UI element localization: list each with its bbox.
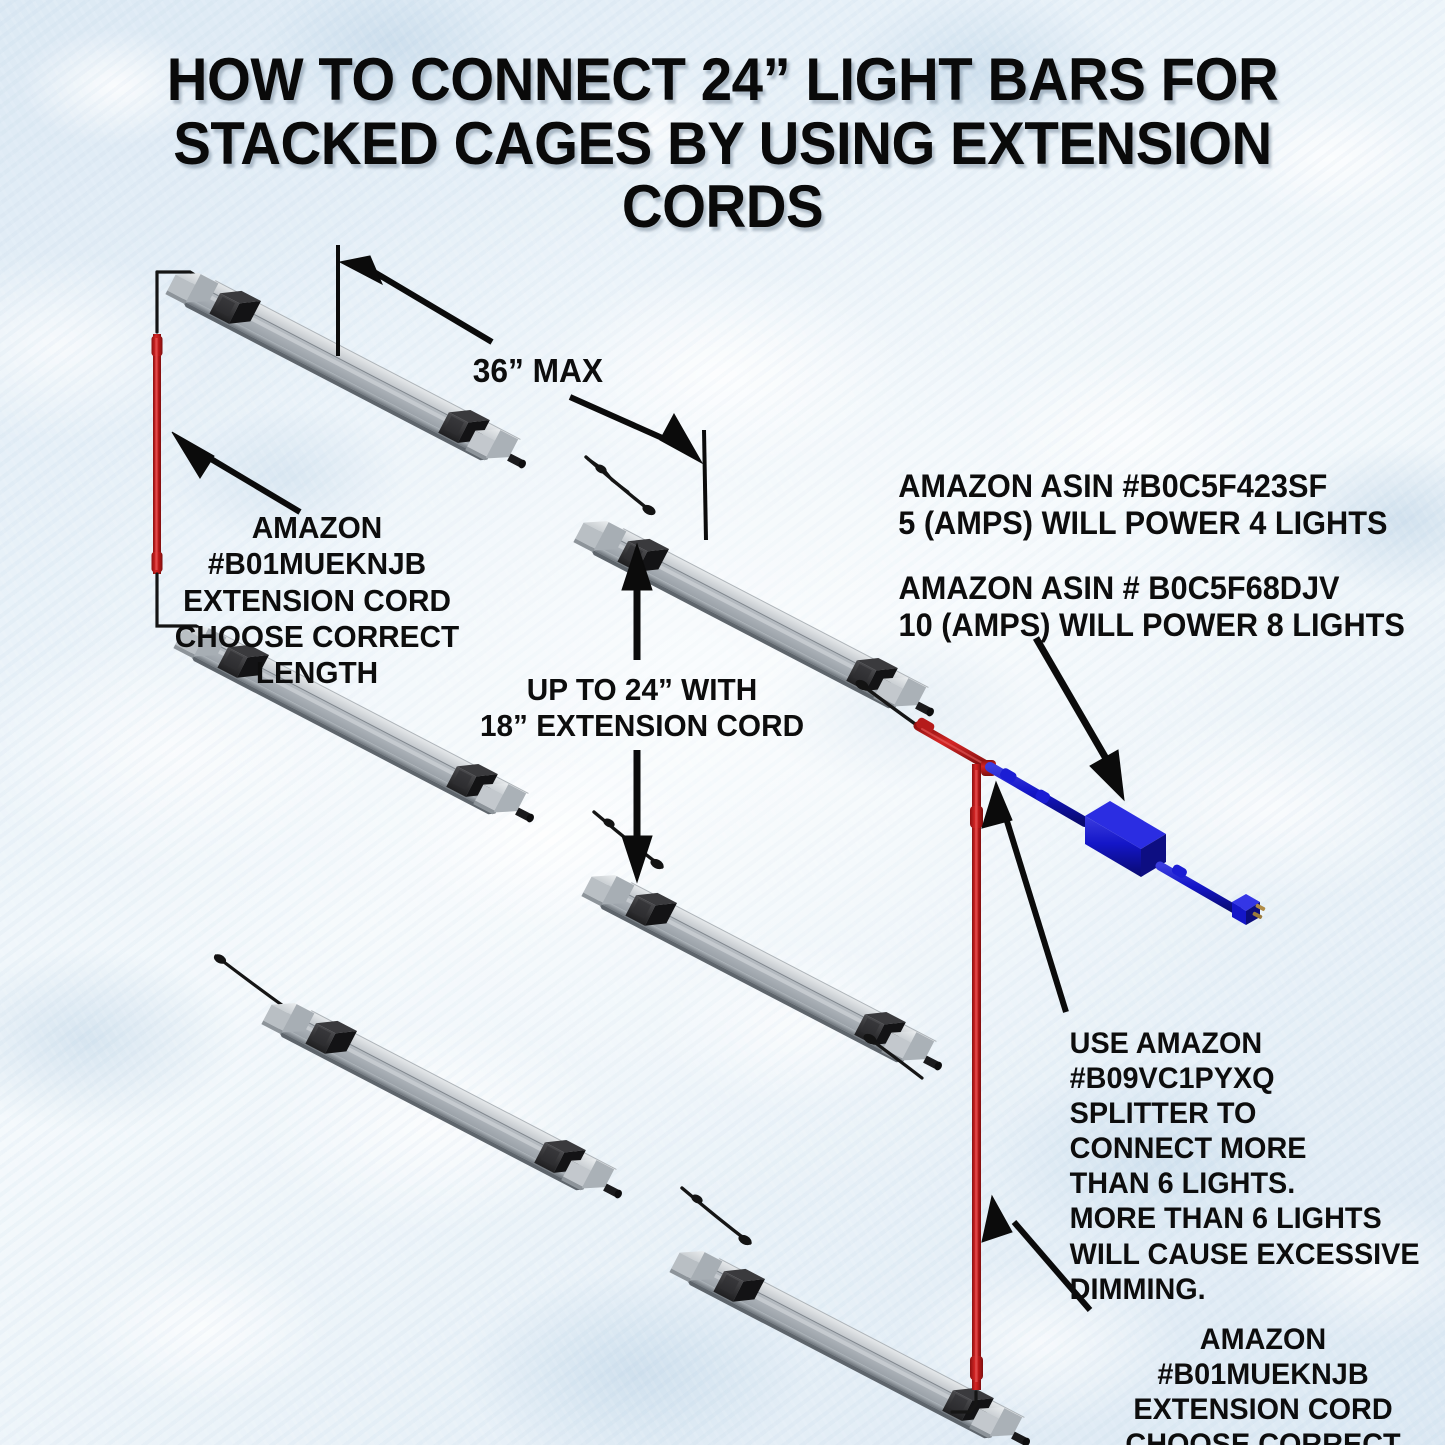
label-asin-5amp: AMAZON ASIN #B0C5F423SF 5 (AMPS) WILL PO… <box>898 468 1387 543</box>
red-extension-cord-upper-right <box>915 716 988 766</box>
label-splitter-note: USE AMAZON #B09VC1PYXQ SPLITTER TO CONNE… <box>1070 1026 1438 1307</box>
label-asin-10amp: AMAZON ASIN # B0C5F68DJV 10 (AMPS) WILL … <box>899 570 1405 645</box>
leader-splitter-note <box>982 782 1066 1012</box>
leader-power-adapter <box>1036 638 1124 800</box>
label-middle-extension: UP TO 24” WITH 18” EXTENSION CORD <box>475 672 809 745</box>
black-extension-cord-top <box>586 457 657 517</box>
black-extension-cord-bottom <box>682 1188 753 1247</box>
leader-up-to-24-lower <box>622 750 652 882</box>
light-bar-bottom-right <box>668 1238 1040 1445</box>
infographic-canvas: HOW TO CONNECT 24” LIGHT BARS FOR STACKE… <box>0 0 1445 1445</box>
label-36-max: 36” MAX <box>473 352 603 391</box>
blue-power-plug <box>1232 894 1266 925</box>
label-bottom-extension-cord: AMAZON #B01MUEKNJB EXTENSION CORD CHOOSE… <box>1095 1322 1431 1445</box>
red-extension-cord-vertical <box>970 764 983 1390</box>
light-bar-middle-right <box>580 862 952 1081</box>
light-bar-bottom-left <box>260 990 632 1209</box>
page-title: HOW TO CONNECT 24” LIGHT BARS FOR STACKE… <box>43 48 1401 239</box>
bottom-row-in-lead <box>212 952 286 1008</box>
leader-left-extension-cord <box>172 432 300 512</box>
label-left-extension-cord: AMAZON #B01MUEKNJB EXTENSION CORD CHOOSE… <box>159 510 476 691</box>
